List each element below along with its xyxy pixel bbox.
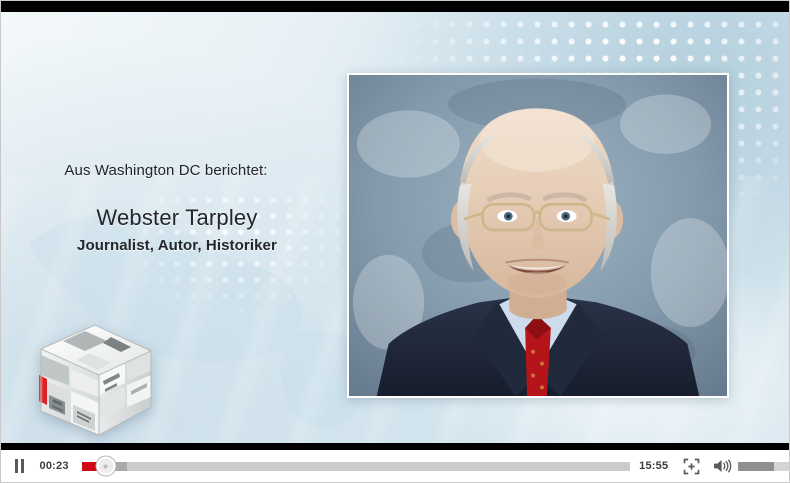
- speaker-on-icon[interactable]: [710, 455, 734, 477]
- lower-third-caption: Aus Washington DC berichtet: Webster Tar…: [1, 162, 331, 254]
- volume-slider-fill: [738, 462, 774, 471]
- current-time-label: 00:23: [40, 460, 77, 472]
- cube-illustration: [33, 319, 155, 441]
- pause-bar-left: [15, 459, 18, 473]
- portrait-illustration: [349, 75, 727, 396]
- fullscreen-glyph: [683, 458, 700, 475]
- volume-slider[interactable]: [738, 462, 789, 471]
- photo-cube-logo: [33, 319, 155, 441]
- speaker-glyph: [713, 458, 732, 474]
- letterbox-top-bar: [1, 1, 789, 12]
- total-time-label: 15:55: [639, 460, 672, 472]
- guest-portrait-photo: [347, 73, 729, 398]
- seek-bar-handle[interactable]: [96, 457, 115, 476]
- player-control-bar: 00:23 15:55: [1, 450, 789, 482]
- video-frame: Aus Washington DC berichtet: Webster Tar…: [1, 12, 789, 443]
- caption-intro-line: Aus Washington DC berichtet:: [1, 162, 331, 179]
- seek-bar[interactable]: [82, 462, 630, 471]
- fullscreen-expand-icon[interactable]: [680, 454, 704, 478]
- video-player: Aus Washington DC berichtet: Webster Tar…: [0, 0, 790, 483]
- pause-bar-right: [21, 459, 24, 473]
- video-stage[interactable]: Aus Washington DC berichtet: Webster Tar…: [1, 1, 789, 450]
- pause-icon[interactable]: [5, 450, 35, 482]
- caption-guest-name: Webster Tarpley: [23, 205, 331, 231]
- caption-guest-role: Journalist, Autor, Historiker: [23, 237, 331, 254]
- letterbox-bottom-bar: [1, 443, 789, 450]
